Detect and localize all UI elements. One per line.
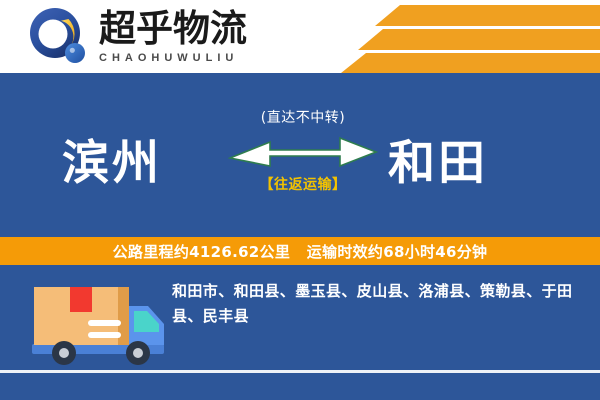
coverage-areas-text: 和田市、和田县、墨玉县、皮山县、洛浦县、策勒县、于田县、民丰县 — [172, 279, 584, 329]
brand-logo: 超乎物流 CHAOHUWULIU — [28, 6, 247, 68]
bidirectional-arrow-icon — [228, 134, 378, 172]
brand-name-cn: 超乎物流 — [99, 10, 247, 47]
origin-city: 滨州 — [62, 124, 162, 193]
circular-q-logo-icon — [28, 6, 90, 68]
route-arrow-block: (直达不中转) 【往返运输】 — [228, 111, 378, 223]
direct-shipping-label: (直达不中转) — [228, 111, 378, 125]
logistics-route-banner: 超乎物流 CHAOHUWULIU 滨州 (直达不中转) 【往返运输】 和田 — [0, 0, 600, 400]
distance-duration-text: 公路里程约4126.62公里 运输时效约68小时46分钟 — [113, 241, 488, 262]
route-panel: 滨州 (直达不中转) 【往返运输】 和田 — [0, 73, 600, 237]
delivery-truck-icon — [26, 275, 166, 375]
road-divider-line — [0, 370, 600, 373]
roundtrip-shipping-label: 【往返运输】 — [228, 178, 378, 192]
destination-city: 和田 — [388, 124, 488, 193]
banner-header: 超乎物流 CHAOHUWULIU — [0, 0, 600, 73]
brand-name-en: CHAOHUWULIU — [99, 52, 247, 64]
orange-speed-stripes-icon — [335, 0, 600, 73]
distance-duration-bar: 公路里程约4126.62公里 运输时效约68小时46分钟 — [0, 237, 600, 265]
brand-text-block: 超乎物流 CHAOHUWULIU — [99, 10, 247, 64]
coverage-section: 和田市、和田县、墨玉县、皮山县、洛浦县、策勒县、于田县、民丰县 — [0, 265, 600, 400]
